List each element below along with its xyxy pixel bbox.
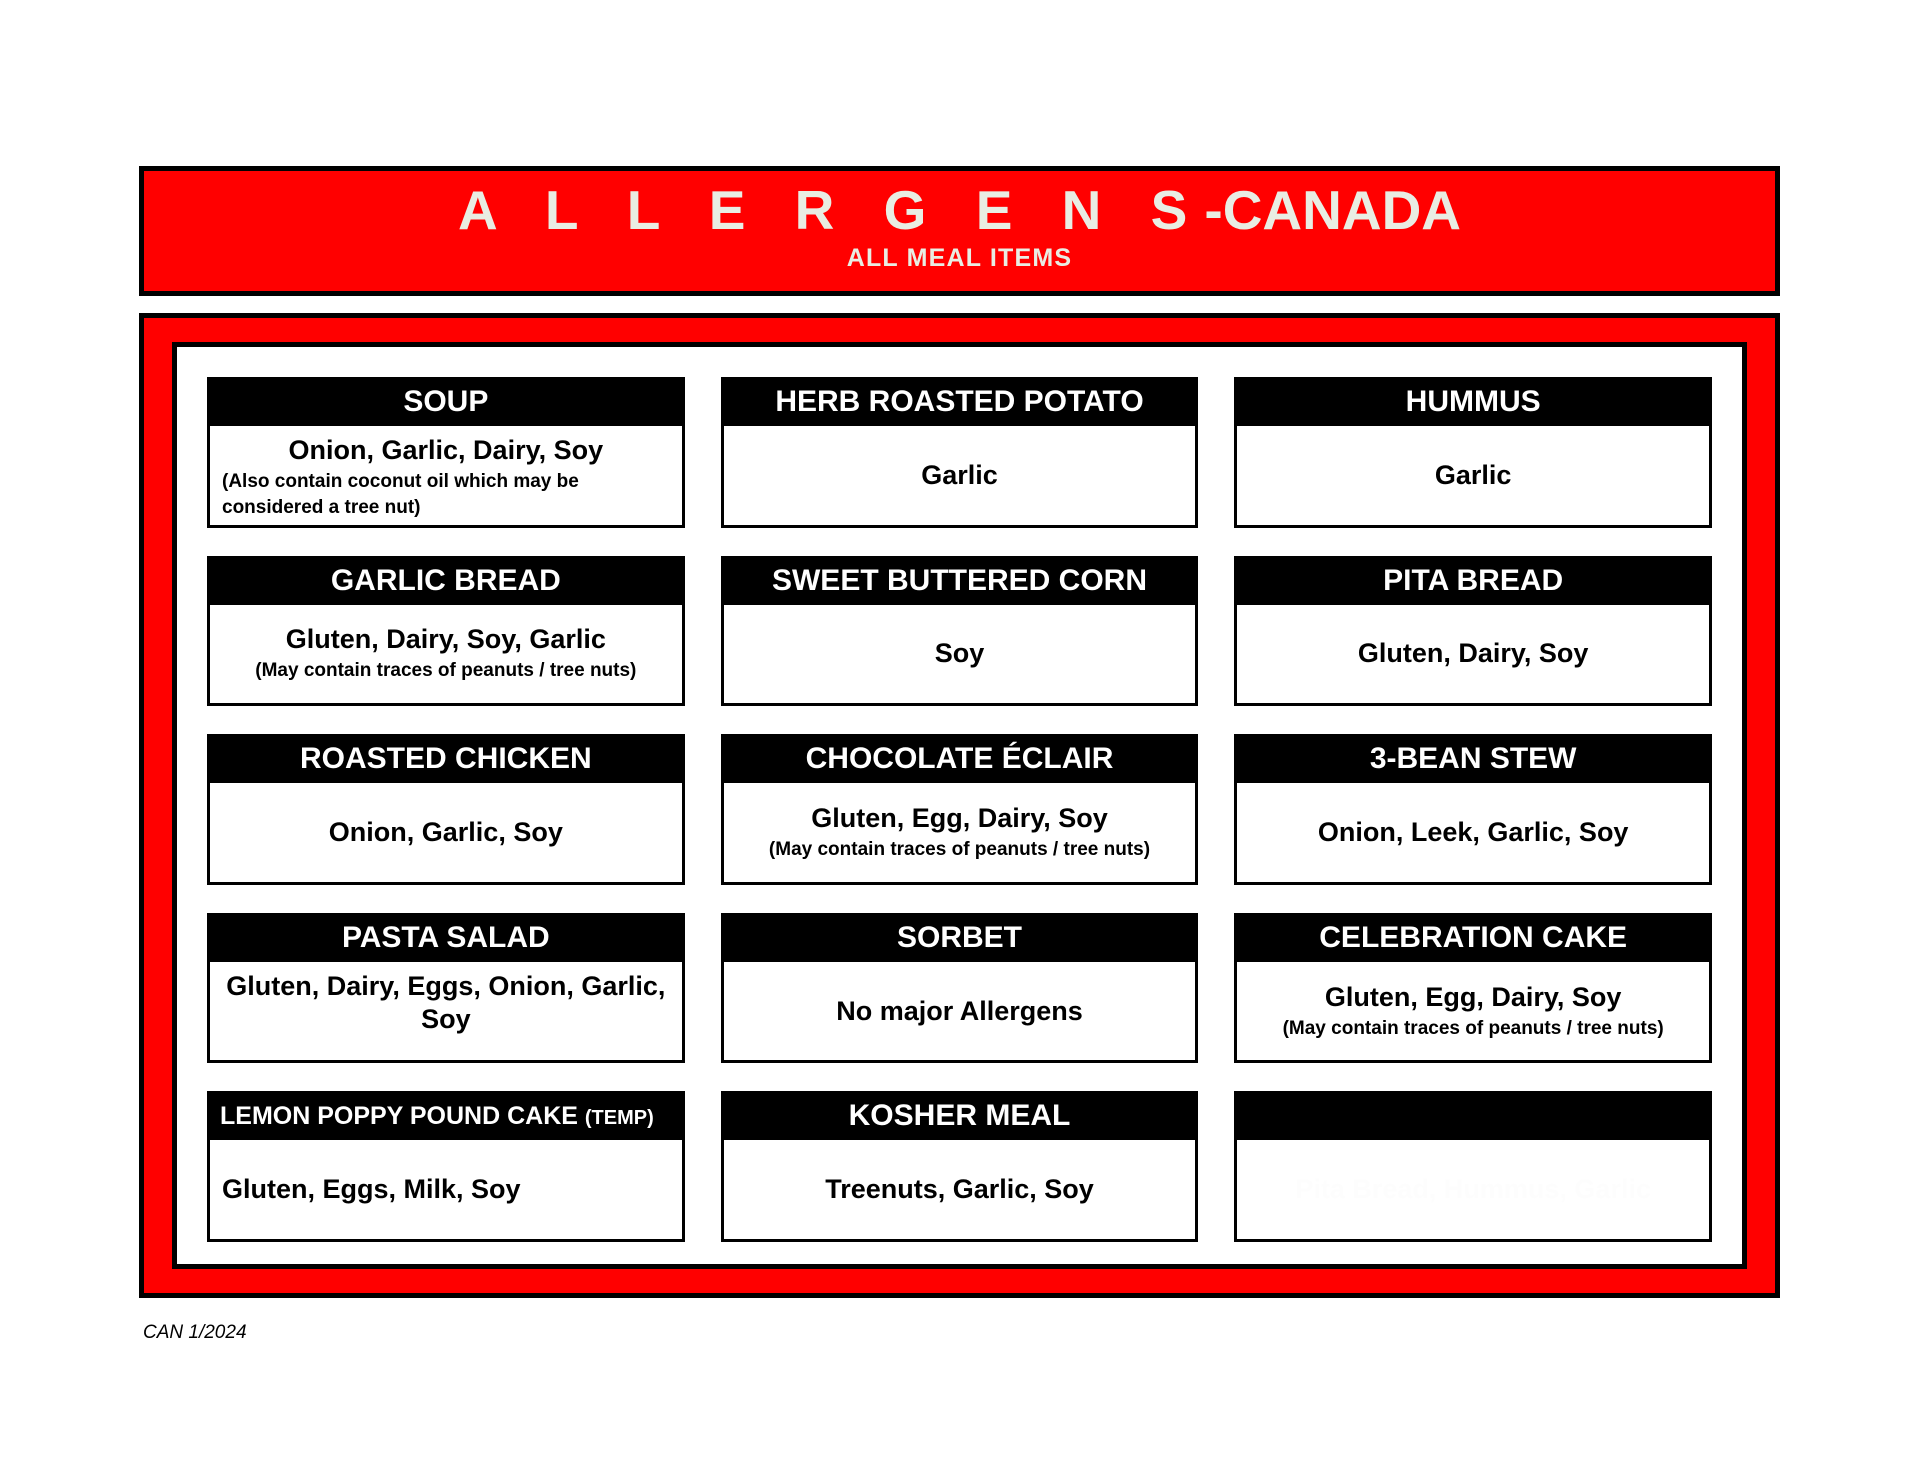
allergen-card: 3-BEAN STEWOnion, Leek, Garlic, Soy (1234, 734, 1712, 885)
allergen-note: (May contain traces of peanuts / tree nu… (1249, 1016, 1697, 1042)
allergen-card-body: Pita Bread, Hummus, Garlic (1237, 1140, 1709, 1239)
allergen-list: Gluten, Egg, Dairy, Soy (736, 802, 1184, 835)
content-frame-outer: SOUPOnion, Garlic, Dairy, Soy(Also conta… (139, 313, 1780, 1298)
allergen-card: LEMON POPPY POUND CAKE (TEMP)Gluten, Egg… (207, 1091, 685, 1242)
allergen-note: (May contain traces of peanuts / tree nu… (736, 837, 1184, 863)
allergen-card-title: PITA BREAD (1237, 559, 1709, 605)
allergen-card-body: Gluten, Dairy, Soy (1237, 605, 1709, 704)
allergen-list: Gluten, Dairy, Soy (1249, 637, 1697, 670)
allergen-card-title: SORBET (724, 916, 1196, 962)
footer-revision: CAN 1/2024 (143, 1322, 247, 1344)
allergen-card-body: Onion, Garlic, Soy (210, 783, 682, 882)
allergen-card: SOUPOnion, Garlic, Dairy, Soy(Also conta… (207, 377, 685, 528)
allergen-card-body: Onion, Garlic, Dairy, Soy(Also contain c… (210, 426, 682, 525)
allergen-list: Garlic (736, 459, 1184, 492)
allergen-card-title: PASTA SALAD (210, 916, 682, 962)
allergen-card: HERB ROASTED POTATOGarlic (721, 377, 1199, 528)
page-title-suffix: -CANADA (1204, 179, 1461, 241)
allergen-card-body: Onion, Leek, Garlic, Soy (1237, 783, 1709, 882)
allergen-card-body: Soy (724, 605, 1196, 704)
allergen-card-title: ROASTED CHICKEN (210, 737, 682, 783)
allergen-card: PASTA SALADGluten, Dairy, Eggs, Onion, G… (207, 913, 685, 1064)
allergen-card: PITA BREADGluten, Dairy, Soy (1234, 556, 1712, 707)
allergen-card-title: SOUP (210, 380, 682, 426)
allergen-card: KOSHER MEALTreenuts, Garlic, Soy (721, 1091, 1199, 1242)
allergen-list: Onion, Garlic, Soy (222, 816, 670, 849)
allergen-card-grid: SOUPOnion, Garlic, Dairy, Soy(Also conta… (207, 377, 1712, 1242)
allergen-card-title: CHOCOLATE ÉCLAIR (724, 737, 1196, 783)
allergen-card-title-suffix: (TEMP) (585, 1107, 654, 1129)
allergen-card: CHOCOLATE ÉCLAIRGluten, Egg, Dairy, Soy(… (721, 734, 1199, 885)
allergen-card-title: GARLIC BREAD (210, 559, 682, 605)
allergen-list: Onion, Garlic, Dairy, Soy (222, 434, 670, 467)
allergen-card: GARLIC BREADGluten, Dairy, Soy, Garlic(M… (207, 556, 685, 707)
allergen-card: CELEBRATION CAKEGluten, Egg, Dairy, Soy(… (1234, 913, 1712, 1064)
allergen-list: No major Allergens (736, 995, 1184, 1028)
allergen-card-body: Gluten, Eggs, Milk, Soy (210, 1140, 682, 1239)
allergen-list: Onion, Leek, Garlic, Soy (1249, 816, 1697, 849)
allergen-card: HUMMUSGarlic (1234, 377, 1712, 528)
allergen-card: SWEET BUTTERED CORNSoy (721, 556, 1199, 707)
allergen-card-body: Gluten, Egg, Dairy, Soy(May contain trac… (1237, 962, 1709, 1061)
allergen-card-title: HUMMUS (1237, 380, 1709, 426)
allergen-note: (May contain traces of peanuts / tree nu… (222, 658, 670, 684)
allergen-card-title: LEMON POPPY POUND CAKE (TEMP) (210, 1094, 682, 1140)
allergen-card-body: Gluten, Egg, Dairy, Soy(May contain trac… (724, 783, 1196, 882)
allergen-card: Pita Bread, Hummus, Garlic (1234, 1091, 1712, 1242)
allergen-poster-page: A L L E R G E N S-CANADA ALL MEAL ITEMS … (0, 0, 1920, 1484)
allergen-card-body: Garlic (724, 426, 1196, 525)
allergen-card: SORBETNo major Allergens (721, 913, 1199, 1064)
allergen-card-title: HERB ROASTED POTATO (724, 380, 1196, 426)
allergen-card-body: Gluten, Dairy, Soy, Garlic(May contain t… (210, 605, 682, 704)
content-frame-inner: SOUPOnion, Garlic, Dairy, Soy(Also conta… (172, 342, 1747, 1269)
allergen-card-title: SWEET BUTTERED CORN (724, 559, 1196, 605)
allergen-card-body: Garlic (1237, 426, 1709, 525)
allergen-card: ROASTED CHICKENOnion, Garlic, Soy (207, 734, 685, 885)
allergen-card-body: No major Allergens (724, 962, 1196, 1061)
page-subtitle: ALL MEAL ITEMS (847, 244, 1073, 272)
allergen-card-body: Treenuts, Garlic, Soy (724, 1140, 1196, 1239)
allergen-card-body: Gluten, Dairy, Eggs, Onion, Garlic, Soy (210, 962, 682, 1061)
allergen-list: Gluten, Egg, Dairy, Soy (1249, 981, 1697, 1014)
allergen-note: (Also contain coconut oil which may be c… (222, 469, 670, 521)
allergen-list: Treenuts, Garlic, Soy (736, 1173, 1184, 1206)
title-banner: A L L E R G E N S-CANADA ALL MEAL ITEMS (139, 166, 1780, 296)
allergen-card-title: CELEBRATION CAKE (1237, 916, 1709, 962)
page-title-spaced: A L L E R G E N S (458, 179, 1204, 241)
allergen-list: Garlic (1249, 459, 1697, 492)
allergen-list: Gluten, Eggs, Milk, Soy (222, 1173, 670, 1206)
allergen-card-title: 3-BEAN STEW (1237, 737, 1709, 783)
allergen-card-title: KOSHER MEAL (724, 1094, 1196, 1140)
allergen-card-title (1237, 1094, 1709, 1140)
allergen-list: Soy (736, 637, 1184, 670)
allergen-list: Gluten, Dairy, Eggs, Onion, Garlic, Soy (222, 970, 670, 1036)
page-title: A L L E R G E N S-CANADA (458, 179, 1461, 241)
allergen-card-ghost-text: Pita Bread, Hummus, Garlic (1249, 1173, 1697, 1206)
allergen-list: Gluten, Dairy, Soy, Garlic (222, 623, 670, 656)
